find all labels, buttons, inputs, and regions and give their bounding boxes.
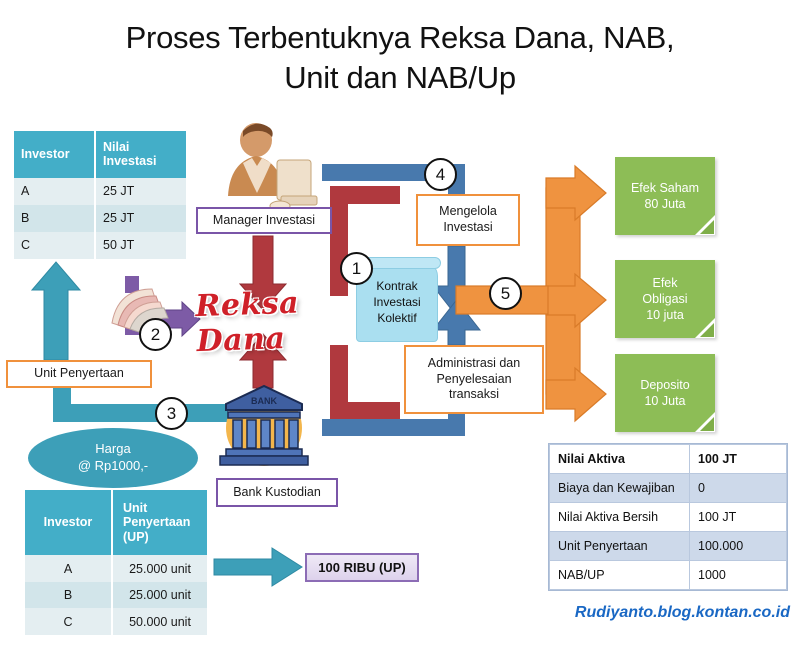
cell: 25.000 unit [112, 555, 207, 582]
note-efek-obligasi: Efek Obligasi 10 juta [615, 260, 715, 338]
kik-line-2: Investasi [373, 294, 420, 310]
nab-value: 1000 [690, 561, 787, 590]
box-bank-kustodian: Bank Kustodian [216, 478, 338, 507]
footer-credit: Rudiyanto.blog.kontan.co.id [0, 604, 790, 622]
harga-line-1: Harga [95, 441, 130, 458]
step-label: 5 [501, 284, 510, 304]
note-line-2: 10 Juta [644, 393, 685, 409]
table-row: A 25.000 unit [25, 555, 207, 582]
box-manager-investasi: Manager Investasi [196, 207, 332, 234]
box-unit-penyertaan: Unit Penyertaan [6, 360, 152, 388]
teal-arrow-to-ribu [214, 548, 302, 586]
table-row: A 25 JT [14, 178, 186, 205]
step-circle-2: 2 [139, 318, 172, 351]
note-line-1: Efek [652, 275, 677, 291]
blue-rail-bottom [322, 414, 465, 436]
mengelola-line-2: Investasi [439, 220, 497, 236]
box-bank-kustodian-label: Bank Kustodian [233, 485, 321, 501]
note-line-3: 10 juta [646, 307, 684, 323]
kik-line-3: Kolektif [377, 310, 416, 326]
box-mengelola-investasi: Mengelola Investasi [416, 194, 520, 246]
admin-line-3: transaksi [428, 387, 520, 403]
step-label: 2 [151, 325, 160, 345]
bank-icon-label: BANK [251, 396, 277, 406]
nab-value: 100 JT [690, 445, 787, 474]
note-line-1: Efek Saham [631, 180, 699, 196]
admin-line-1: Administrasi dan [428, 356, 520, 372]
table-row: B 25 JT [14, 205, 186, 232]
cell: 50 JT [95, 232, 186, 259]
title-line-1: Proses Terbentuknya Reksa Dana, NAB, [0, 18, 800, 58]
note-deposito: Deposito 10 Juta [615, 354, 715, 432]
col-header-unit-penyertaan: UnitPenyertaan(UP) [112, 490, 207, 555]
step-circle-3: 3 [155, 397, 188, 430]
step-circle-1: 1 [340, 252, 373, 285]
col-header-nilai-investasi: NilaiInvestasi [95, 131, 186, 178]
teal-elbow-harga-to-unit [53, 385, 228, 422]
step-label: 1 [352, 259, 361, 279]
box-100-ribu-up: 100 RIBU (UP) [305, 553, 419, 582]
box-administrasi-penyelesaian: Administrasi dan Penyelesaian transaksi [404, 345, 544, 414]
note-line-2: 80 Juta [644, 196, 685, 212]
col-header-investor: Investor [14, 131, 95, 178]
blue-arrow-down-mengelola [433, 246, 480, 316]
bank-building-icon: BANK [220, 386, 308, 466]
fold-corner-inner-icon [700, 220, 714, 234]
nab-label: NAB/UP [550, 561, 690, 590]
box-unit-penyertaan-label: Unit Penyertaan [34, 366, 124, 382]
table-row: Biaya dan Kewajiban 0 [550, 474, 787, 503]
cell: A [25, 555, 112, 582]
note-line-1: Deposito [640, 377, 689, 393]
blue-arrow-up-admin [433, 300, 480, 345]
table-nilai-investasi: Investor NilaiInvestasi A 25 JT B 25 JT … [14, 131, 186, 259]
box-100-ribu-up-label: 100 RIBU (UP) [318, 560, 405, 575]
reksa-dana-logo-text: Reksa Dana [195, 283, 377, 359]
footer-credit-text: Rudiyanto.blog.kontan.co.id [575, 604, 790, 621]
cell: B [14, 205, 95, 232]
table-nab: Nilai Aktiva 100 JT Biaya dan Kewajiban … [548, 443, 788, 591]
title-line-2: Unit dan NAB/Up [0, 58, 800, 98]
box-manager-investasi-label: Manager Investasi [213, 213, 315, 229]
table-row: Investor NilaiInvestasi [14, 131, 186, 178]
col-header-investor: Investor [25, 490, 112, 555]
table-row: NAB/UP 1000 [550, 561, 787, 590]
cell: C [14, 232, 95, 259]
teal-bar-step3 [53, 404, 216, 422]
table-row: Unit Penyertaan 100.000 [550, 532, 787, 561]
kik-line-1: Kontrak [376, 278, 417, 294]
page-title: Proses Terbentuknya Reksa Dana, NAB, Uni… [0, 18, 800, 97]
nab-label: Nilai Aktiva [550, 445, 690, 474]
cell: 25 JT [95, 205, 186, 232]
businessman-icon [228, 123, 317, 211]
nab-label: Nilai Aktiva Bersih [550, 503, 690, 532]
reksa-dana-logo: Reksa Dana [195, 293, 377, 349]
nab-value: 100 JT [690, 503, 787, 532]
nab-label: Biaya dan Kewajiban [550, 474, 690, 503]
red-bracket-bottom [330, 345, 400, 420]
nab-label: Unit Penyertaan [550, 532, 690, 561]
table-row: Investor UnitPenyertaan(UP) [25, 490, 207, 555]
diagram-canvas: Proses Terbentuknya Reksa Dana, NAB, Uni… [0, 0, 800, 646]
step-label: 3 [167, 404, 176, 424]
step-label: 4 [436, 165, 445, 185]
table-row: Nilai Aktiva Bersih 100 JT [550, 503, 787, 532]
nab-value: 100.000 [690, 532, 787, 561]
note-line-2: Obligasi [642, 291, 687, 307]
fold-corner-inner-icon [700, 323, 714, 337]
table-row: C 50 JT [14, 232, 186, 259]
fold-corner-inner-icon [700, 417, 714, 431]
harga-line-2: @ Rp1000,- [78, 458, 148, 475]
mengelola-line-1: Mengelola [439, 204, 497, 220]
cell: A [14, 178, 95, 205]
teal-arrow-up-to-table [32, 262, 80, 360]
step-circle-4: 4 [424, 158, 457, 191]
step-circle-5: 5 [489, 277, 522, 310]
ellipse-harga: Harga @ Rp1000,- [28, 428, 198, 488]
table-row: Nilai Aktiva 100 JT [550, 445, 787, 474]
admin-line-2: Penyelesaian [428, 372, 520, 388]
nab-value: 0 [690, 474, 787, 503]
cell: 25 JT [95, 178, 186, 205]
note-efek-saham: Efek Saham 80 Juta [615, 157, 715, 235]
